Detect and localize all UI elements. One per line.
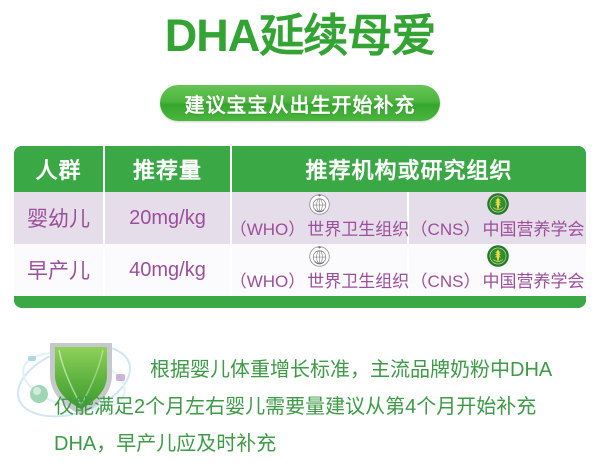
footer-line-2: 仅能满足2个月左右婴儿需要量建议从第4个月开始补充 (0, 389, 600, 426)
footer-line-3: DHA，早产儿应及时补充 (0, 426, 600, 463)
cns-abbr: （CNS） (411, 267, 481, 292)
table-footer-bar (14, 296, 586, 306)
who-label-line: （WHO） 世界卫生组织 (230, 267, 410, 292)
cell-amount: 40mg/kg (105, 244, 232, 296)
table-header-group: 人群 (14, 146, 105, 192)
who-abbr: （WHO） (230, 215, 306, 240)
advice-pill-label: 建议宝宝从出生开始补充 (185, 89, 416, 118)
table-row: 早产儿 40mg/kg （WHO） 世界卫生组织 (14, 244, 586, 296)
who-logo-icon (308, 193, 331, 216)
cns-label-line: （CNS） 中国营养学会 (411, 267, 585, 292)
cns-name: 中国营养学会 (482, 267, 584, 292)
table-row: 婴幼儿 20mg/kg （WHO） 世界卫生组织 (14, 192, 586, 244)
cns-name: 中国营养学会 (482, 215, 584, 240)
footer-description: 根据婴儿体重增长标准，主流品牌奶粉中DHA 仅能满足2个月左右婴儿需要量建议从第… (0, 352, 600, 463)
cell-organization-cns: （CNS） 中国营养学会 (409, 192, 586, 244)
cns-logo-icon (486, 244, 510, 268)
cell-organization-who: （WHO） 世界卫生组织 (232, 244, 409, 296)
cell-organization-cns: （CNS） 中国营养学会 (409, 244, 586, 296)
table-header-amount: 推荐量 (105, 146, 232, 192)
who-name: 世界卫生组织 (307, 215, 409, 240)
cns-logo-icon (486, 192, 510, 216)
who-abbr: （WHO） (230, 267, 306, 292)
cns-label-line: （CNS） 中国营养学会 (411, 215, 585, 240)
cell-group: 早产儿 (14, 244, 105, 296)
table-header-organization: 推荐机构或研究组织 (232, 146, 586, 192)
cell-organization-who: （WHO） 世界卫生组织 (232, 192, 409, 244)
recommendation-table: 人群 推荐量 推荐机构或研究组织 婴幼儿 20mg/kg （WHO） (14, 146, 586, 308)
advice-pill-banner: 建议宝宝从出生开始补充 (160, 85, 440, 121)
table-header-row: 人群 推荐量 推荐机构或研究组织 (14, 146, 586, 192)
who-logo-icon (308, 245, 331, 268)
cell-amount: 20mg/kg (105, 192, 232, 244)
cns-abbr: （CNS） (411, 215, 481, 240)
cell-group: 婴幼儿 (14, 192, 105, 244)
page-title: DHA延续母爱 (0, 8, 600, 64)
who-name: 世界卫生组织 (307, 267, 409, 292)
footer-line-1: 根据婴儿体重增长标准，主流品牌奶粉中DHA (0, 352, 600, 389)
who-label-line: （WHO） 世界卫生组织 (230, 215, 410, 240)
promo-page: DHA延续母爱 建议宝宝从出生开始补充 人群 推荐量 推荐机构或研究组织 婴幼儿… (0, 0, 600, 475)
